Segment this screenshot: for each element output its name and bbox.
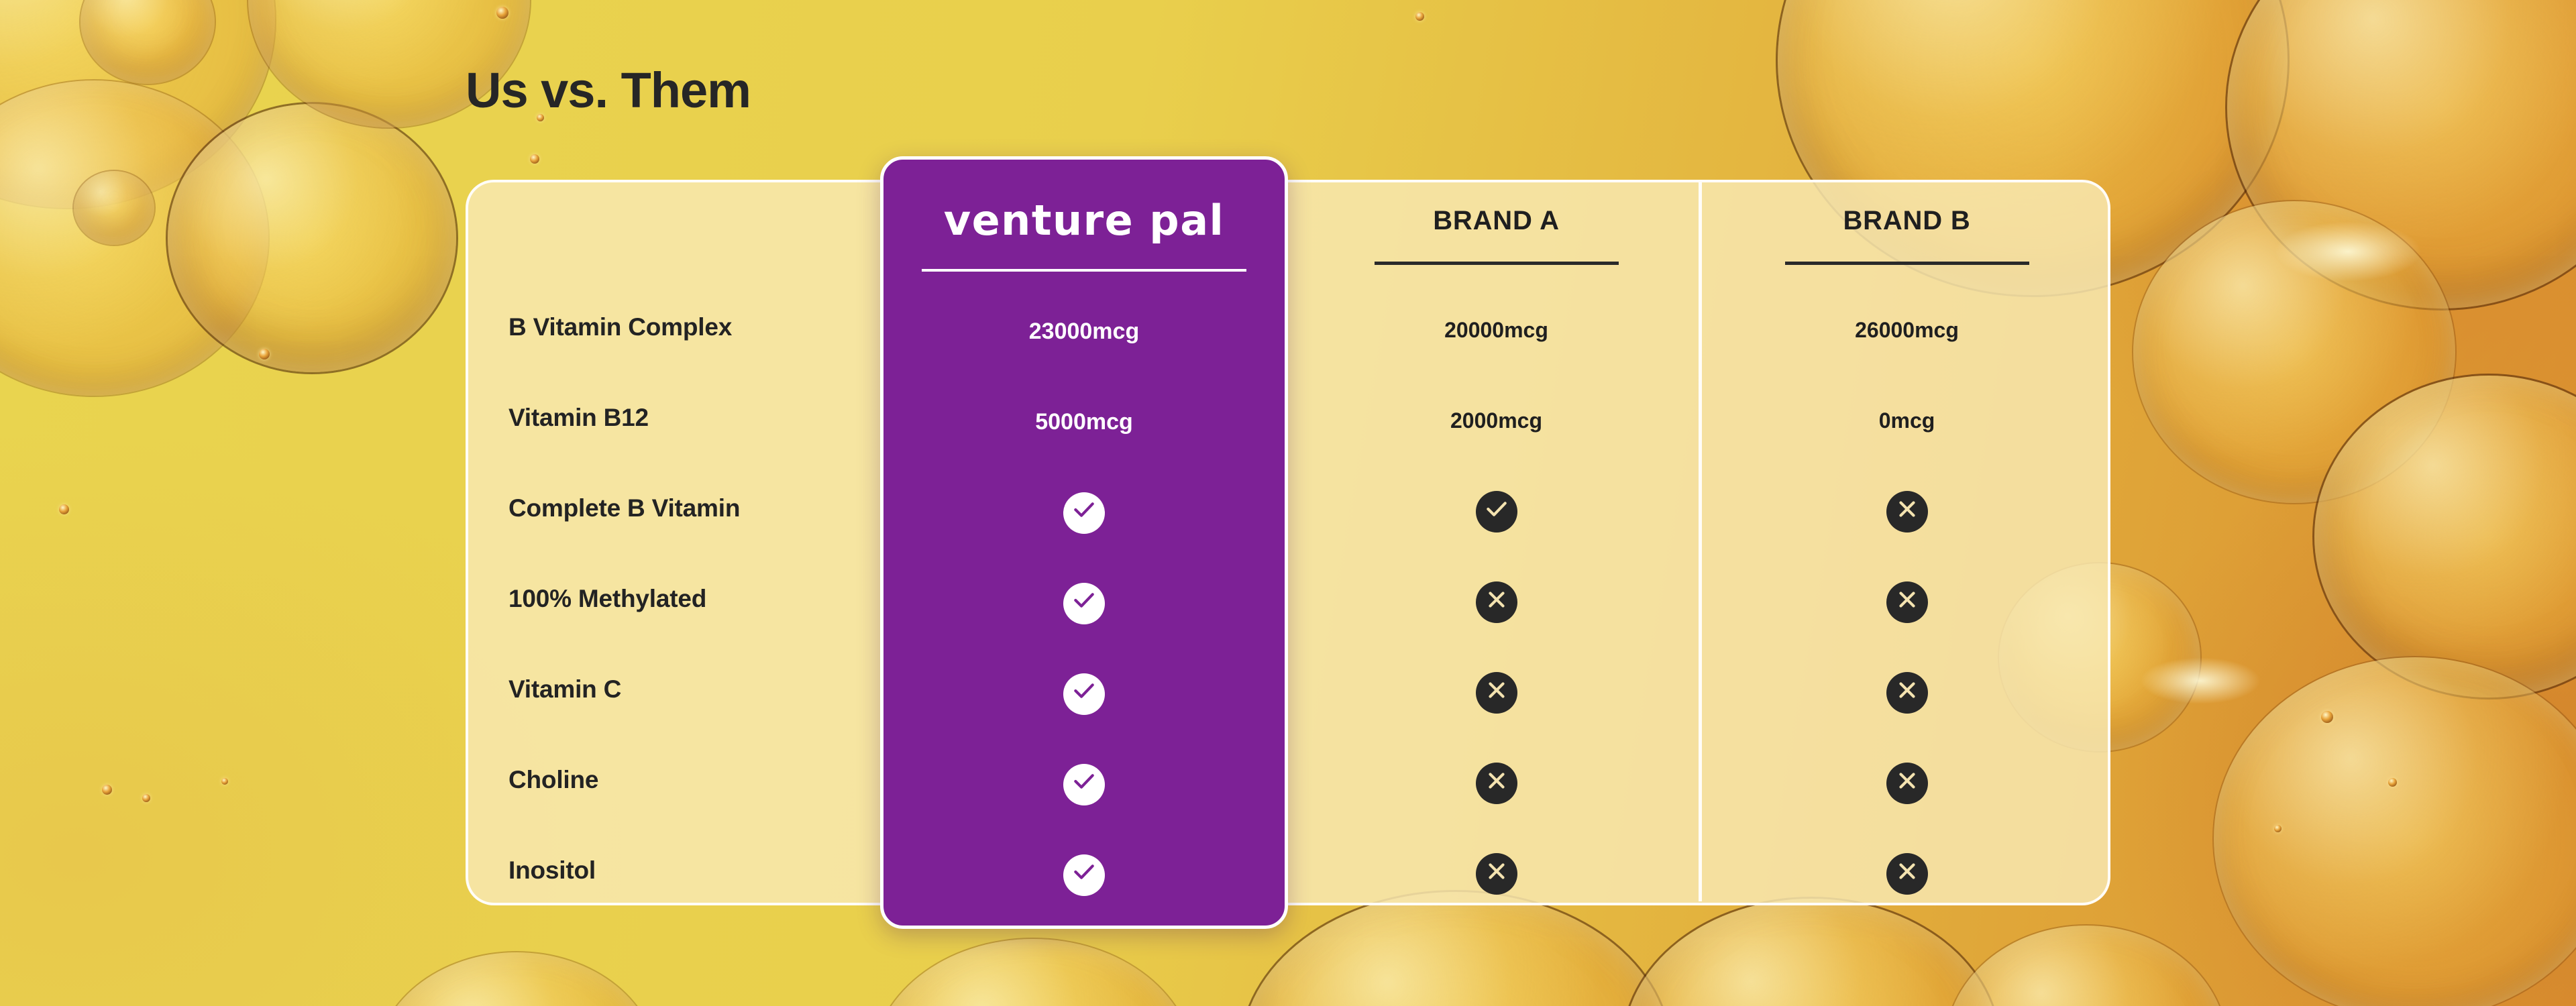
comparison-cell: 0mcg bbox=[1724, 376, 2090, 466]
comparison-cell bbox=[1724, 557, 2090, 647]
cross-mark-badge bbox=[1476, 853, 1517, 895]
cross-icon bbox=[1894, 587, 1920, 618]
comparison-cell bbox=[883, 830, 1285, 920]
cross-icon bbox=[1484, 858, 1509, 889]
comparison-cell bbox=[883, 649, 1285, 739]
comparison-cell: 23000mcg bbox=[883, 286, 1285, 377]
check-mark-badge bbox=[1063, 583, 1105, 624]
check-mark-badge bbox=[1063, 673, 1105, 715]
cross-icon bbox=[1894, 858, 1920, 889]
cross-mark-badge bbox=[1886, 672, 1928, 714]
brand-a-values: 20000mcg2000mcg bbox=[1313, 285, 1679, 919]
check-mark-badge bbox=[1063, 492, 1105, 534]
cross-mark-badge bbox=[1886, 763, 1928, 804]
comparison-cell bbox=[1724, 647, 2090, 738]
brand-b-header: BRAND B bbox=[1724, 180, 2090, 262]
brand-a-column: BRAND A 20000mcg2000mcg bbox=[1313, 180, 1679, 919]
comparison-cell: 2000mcg bbox=[1313, 376, 1679, 466]
check-mark-badge bbox=[1063, 764, 1105, 805]
comparison-cell bbox=[883, 558, 1285, 649]
cross-mark-badge bbox=[1476, 763, 1517, 804]
check-icon bbox=[1071, 859, 1097, 891]
feature-label: Inositol bbox=[508, 825, 884, 915]
cross-icon bbox=[1484, 587, 1509, 618]
feature-label: Complete B Vitamin bbox=[508, 463, 884, 553]
comparison-cell: 20000mcg bbox=[1313, 285, 1679, 376]
comparison-cell bbox=[1724, 466, 2090, 557]
cross-icon bbox=[1894, 496, 1920, 527]
comparison-cell bbox=[883, 739, 1285, 830]
check-icon bbox=[1071, 678, 1097, 710]
comparison-cell bbox=[1313, 738, 1679, 828]
feature-label: Vitamin C bbox=[508, 644, 884, 734]
brand-a-header: BRAND A bbox=[1313, 180, 1679, 262]
venture-pal-highlight-card[interactable]: venture pal 23000mcg5000mcg bbox=[880, 156, 1288, 929]
cross-mark-badge bbox=[1886, 581, 1928, 623]
cross-mark-badge bbox=[1886, 853, 1928, 895]
brand-b-underline bbox=[1785, 262, 2029, 265]
comparison-cell bbox=[1313, 557, 1679, 647]
cross-icon bbox=[1484, 677, 1509, 708]
check-icon bbox=[1071, 769, 1097, 800]
check-icon bbox=[1484, 496, 1509, 527]
cross-mark-badge bbox=[1476, 581, 1517, 623]
page-title: Us vs. Them bbox=[466, 62, 751, 119]
comparison-cell: 5000mcg bbox=[883, 377, 1285, 467]
cross-icon bbox=[1894, 768, 1920, 799]
comparison-cell bbox=[1724, 828, 2090, 919]
column-divider bbox=[1699, 182, 1702, 901]
check-icon bbox=[1071, 588, 1097, 619]
check-mark-badge bbox=[1063, 854, 1105, 896]
comparison-cell bbox=[1313, 647, 1679, 738]
cross-mark-badge bbox=[1476, 672, 1517, 714]
feature-label: Vitamin B12 bbox=[508, 372, 884, 463]
cross-icon bbox=[1484, 768, 1509, 799]
check-icon bbox=[1071, 497, 1097, 528]
comparison-cell: 26000mcg bbox=[1724, 285, 2090, 376]
cross-icon bbox=[1894, 677, 1920, 708]
venture-pal-underline bbox=[922, 269, 1246, 272]
comparison-cell bbox=[883, 467, 1285, 558]
check-mark-badge bbox=[1476, 491, 1517, 533]
cross-mark-badge bbox=[1886, 491, 1928, 533]
feature-label: 100% Methylated bbox=[508, 553, 884, 644]
brand-b-column: BRAND B 26000mcg0mcg bbox=[1724, 180, 2090, 919]
venture-pal-logo: venture pal bbox=[883, 196, 1285, 245]
comparison-cell bbox=[1313, 828, 1679, 919]
venture-pal-values: 23000mcg5000mcg bbox=[883, 286, 1285, 920]
feature-label: B Vitamin Complex bbox=[508, 282, 884, 372]
feature-label: Choline bbox=[508, 734, 884, 825]
comparison-cell bbox=[1724, 738, 2090, 828]
feature-label-column: B Vitamin ComplexVitamin B12Complete B V… bbox=[508, 282, 884, 915]
brand-a-underline bbox=[1375, 262, 1619, 265]
brand-b-values: 26000mcg0mcg bbox=[1724, 285, 2090, 919]
comparison-cell bbox=[1313, 466, 1679, 557]
